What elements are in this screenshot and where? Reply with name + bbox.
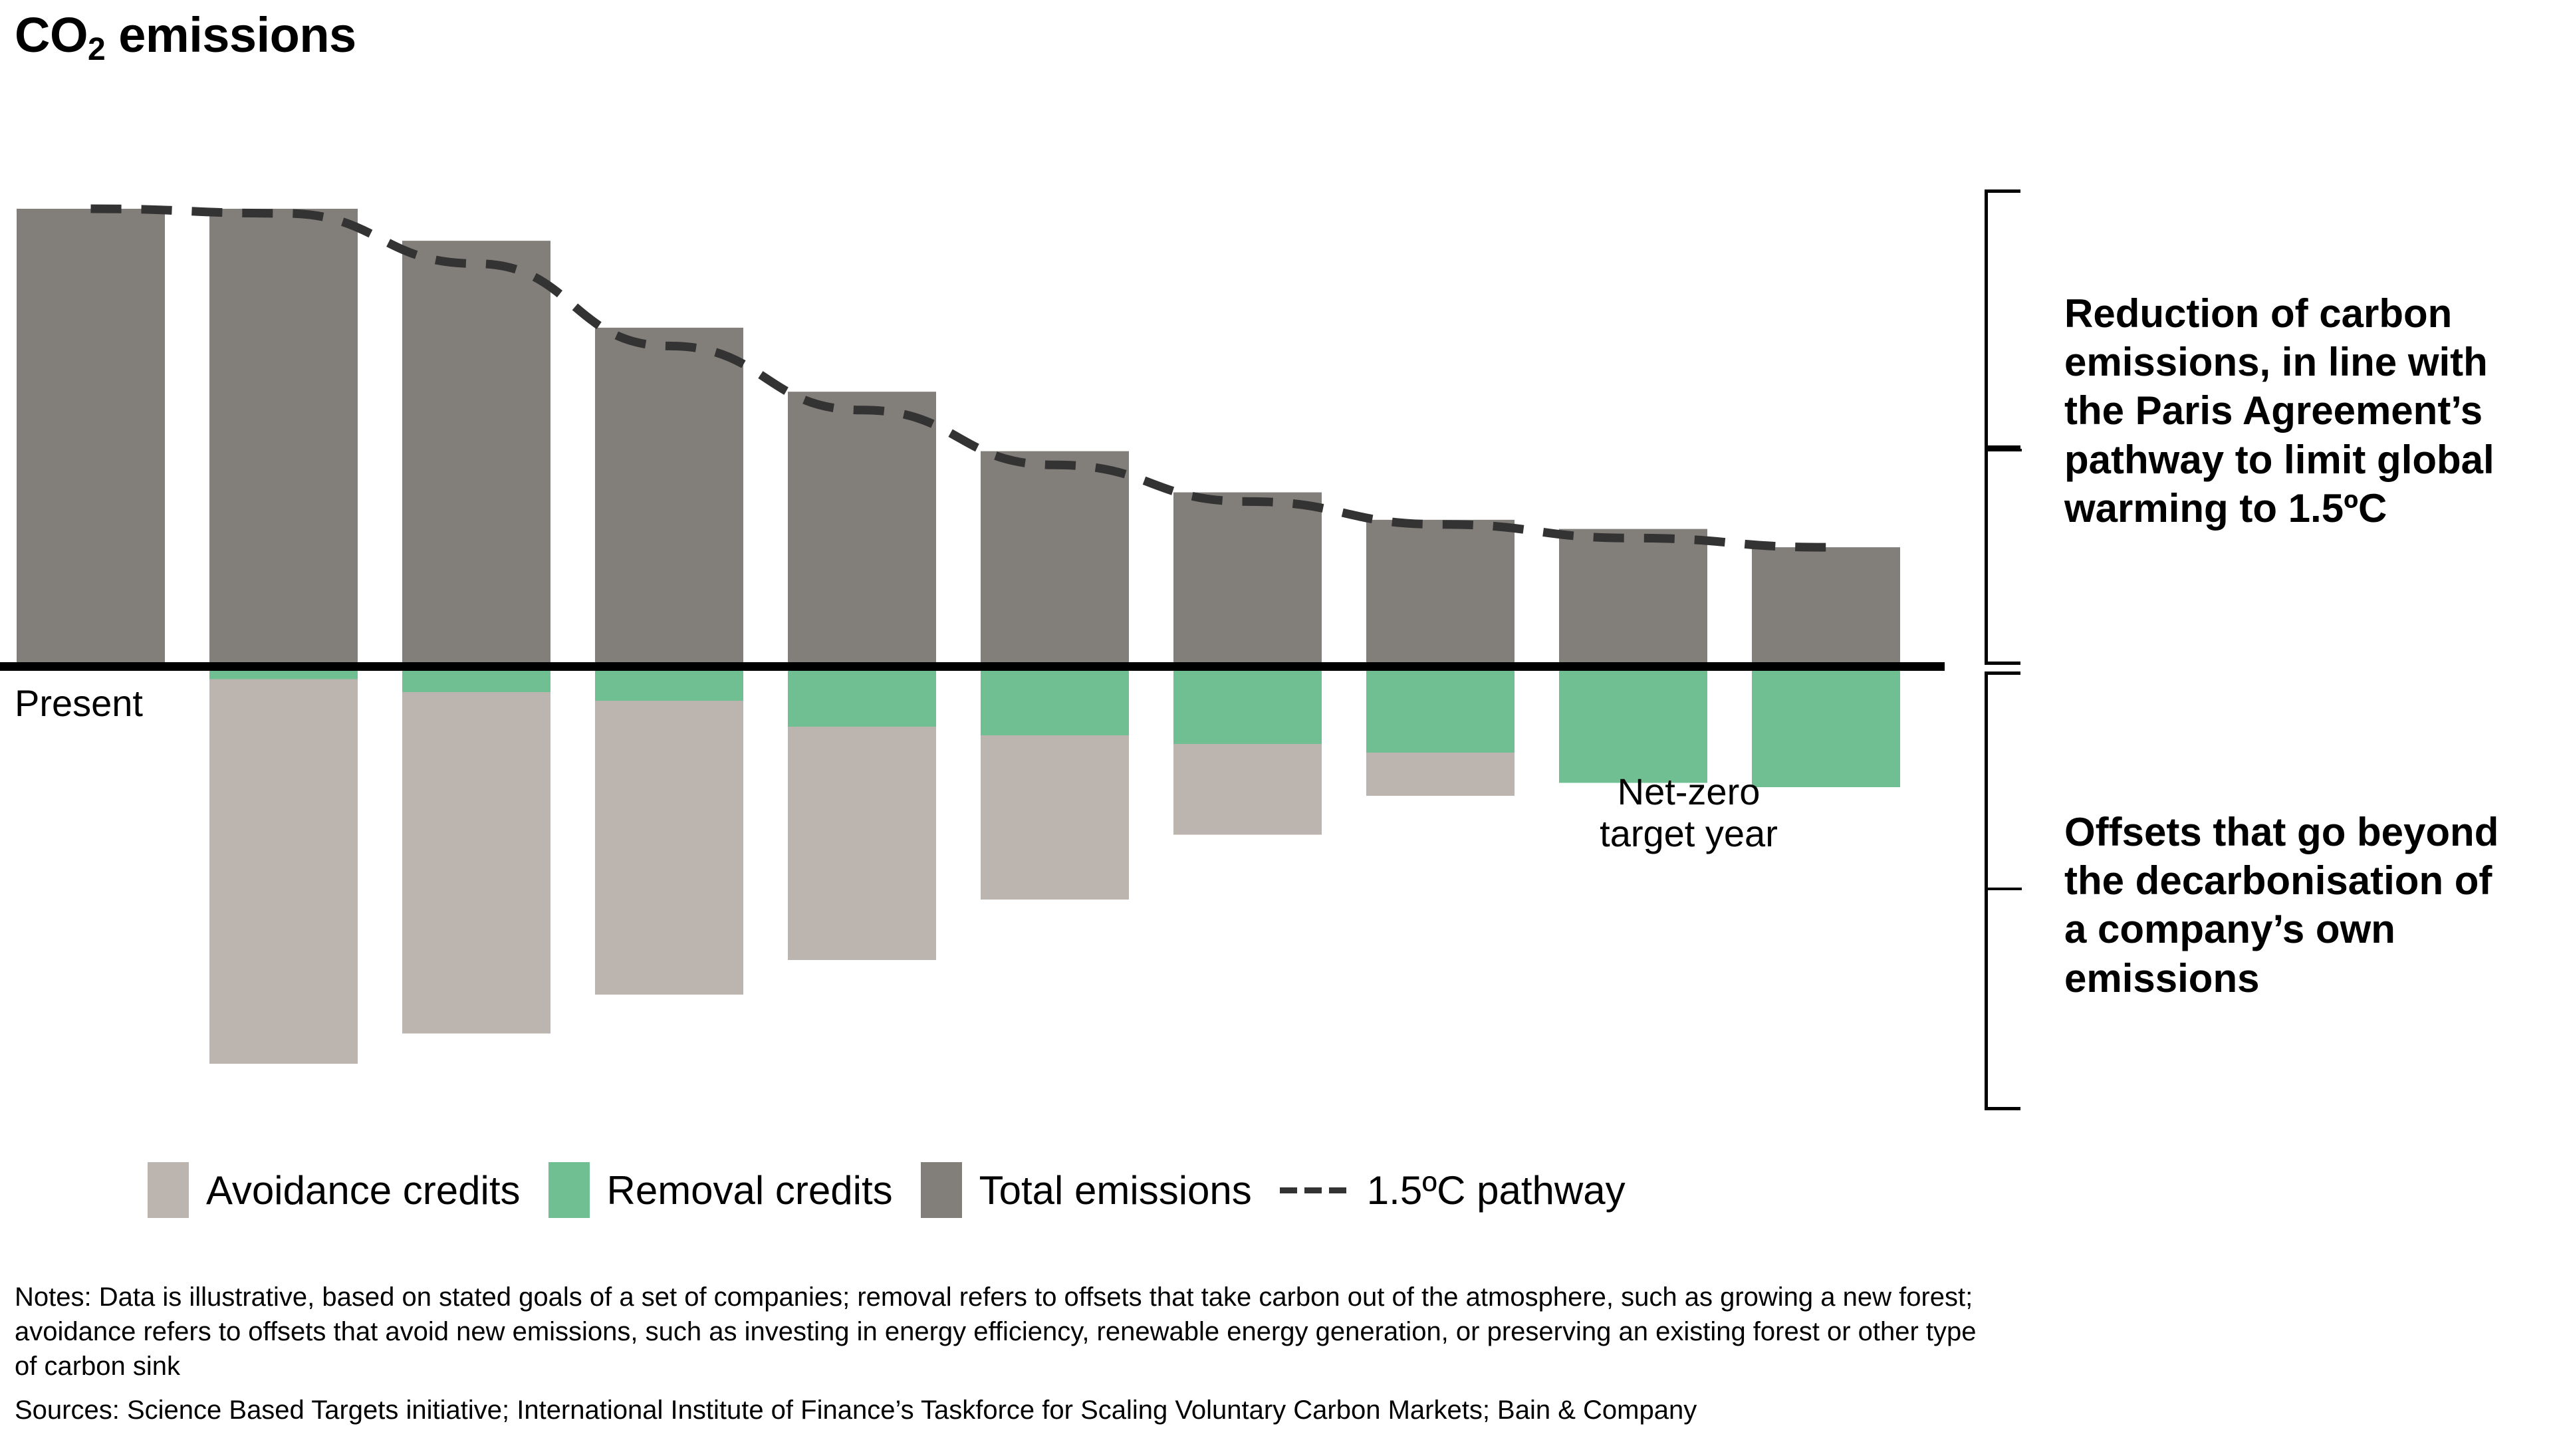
pathway-line-layer: [0, 0, 2553, 1456]
legend-item[interactable]: Avoidance credits: [148, 1162, 521, 1218]
legend-item-label: Avoidance credits: [206, 1167, 521, 1213]
bracket-top-vline: [1985, 189, 1988, 449]
footer-notes: Notes: Data is illustrative, based on st…: [15, 1280, 2541, 1384]
bracket-offsets-upper-half: [1985, 671, 2022, 888]
bracket-top2-vline: [1985, 449, 1988, 665]
legend-item-label: Total emissions: [979, 1167, 1252, 1213]
bracket-reduction-lower-half: [1985, 449, 2022, 665]
bracket-bot-vline: [1985, 671, 1988, 888]
dashed-line-icon: [1280, 1187, 1354, 1193]
legend-item-label: Removal credits: [607, 1167, 893, 1213]
legend-item-label: 1.5ºC pathway: [1367, 1167, 1626, 1213]
bracket-top-cap-upper: [1985, 189, 2020, 193]
present-axis-label: Present: [15, 681, 143, 725]
square-swatch-icon: [148, 1162, 189, 1218]
pathway-dashed-line: [91, 209, 1826, 547]
bracket-bot2-vline: [1985, 888, 1988, 1110]
bracket-bot-cap-upper: [1985, 671, 2020, 675]
annotation-offsets-text: Offsets that go beyond the decarbonisati…: [2064, 808, 2553, 1003]
bracket-offsets-lower-half: [1985, 888, 2022, 1110]
legend-item[interactable]: Total emissions: [921, 1162, 1252, 1218]
net-zero-axis-label: Net-zero target year: [1549, 771, 1828, 854]
bracket-top2-cap-lower: [1985, 662, 2020, 665]
chart-legend: Avoidance creditsRemoval creditsTotal em…: [148, 1162, 1653, 1218]
bracket-top-midtick: [1987, 449, 2022, 451]
legend-item[interactable]: Removal credits: [548, 1162, 893, 1218]
annotation-reduction-text: Reduction of carbon emissions, in line w…: [2064, 289, 2553, 533]
bracket-bot-midtick: [1987, 888, 2022, 890]
chart-plot-area: Present Net-zero target year: [0, 0, 2553, 1456]
bracket-reduction: [1985, 189, 2022, 449]
square-swatch-icon: [921, 1162, 962, 1218]
bracket-bot2-cap-lower: [1985, 1107, 2020, 1110]
footer-sources: Sources: Science Based Targets initiativ…: [15, 1393, 2541, 1427]
legend-item[interactable]: 1.5ºC pathway: [1280, 1167, 1626, 1213]
square-swatch-icon: [548, 1162, 590, 1218]
zero-axis-line: [0, 662, 1945, 671]
